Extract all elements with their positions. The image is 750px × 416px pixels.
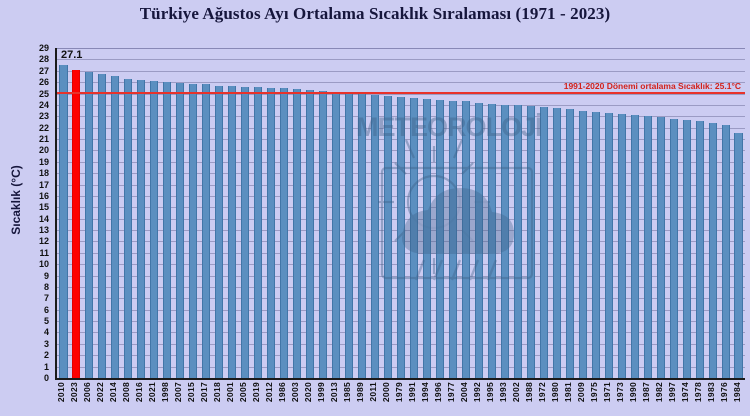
x-axis-tick-labels: 2010202320062022201420082016202119982007… bbox=[55, 382, 745, 416]
x-tick-1990: 1990 bbox=[628, 382, 638, 402]
y-tick-0: 0 bbox=[44, 374, 49, 382]
bar-1973[interactable] bbox=[618, 114, 626, 378]
x-tick-1983: 1983 bbox=[706, 382, 716, 402]
bar-2002[interactable] bbox=[514, 105, 522, 378]
y-tick-6: 6 bbox=[44, 306, 49, 314]
bar-1975[interactable] bbox=[592, 112, 600, 378]
bar-1972[interactable] bbox=[540, 107, 548, 378]
x-tick-1985: 1985 bbox=[342, 382, 352, 402]
x-tick-2017: 2017 bbox=[199, 382, 209, 402]
y-tick-14: 14 bbox=[39, 215, 49, 223]
bar-1996[interactable] bbox=[436, 100, 444, 378]
x-tick-2000: 2000 bbox=[381, 382, 391, 402]
y-tick-10: 10 bbox=[39, 260, 49, 268]
x-tick-2023: 2023 bbox=[69, 382, 79, 402]
x-tick-2020: 2020 bbox=[303, 382, 313, 402]
bar-1999[interactable] bbox=[319, 91, 327, 378]
bar-1998[interactable] bbox=[163, 82, 171, 378]
bar-2018[interactable] bbox=[215, 86, 223, 378]
x-tick-1996: 1996 bbox=[433, 382, 443, 402]
bar-1989[interactable] bbox=[358, 94, 366, 378]
bar-1986[interactable] bbox=[280, 88, 288, 378]
x-tick-2002: 2002 bbox=[511, 382, 521, 402]
bar-1990[interactable] bbox=[631, 115, 639, 378]
bar-2021[interactable] bbox=[150, 81, 158, 378]
bar-1976[interactable] bbox=[722, 125, 730, 378]
bar-1992[interactable] bbox=[475, 103, 483, 378]
bar-2022[interactable] bbox=[98, 74, 106, 378]
y-tick-1: 1 bbox=[44, 363, 49, 371]
x-tick-1977: 1977 bbox=[446, 382, 456, 402]
bar-2013[interactable] bbox=[332, 92, 340, 378]
bar-1994[interactable] bbox=[423, 99, 431, 378]
x-tick-2013: 2013 bbox=[329, 382, 339, 402]
y-tick-19: 19 bbox=[39, 158, 49, 166]
y-tick-28: 28 bbox=[39, 55, 49, 63]
bar-2016[interactable] bbox=[137, 80, 145, 378]
x-tick-2012: 2012 bbox=[264, 382, 274, 402]
x-tick-2007: 2007 bbox=[173, 382, 183, 402]
bar-2017[interactable] bbox=[202, 84, 210, 378]
bar-2015[interactable] bbox=[189, 84, 197, 378]
x-tick-1999: 1999 bbox=[316, 382, 326, 402]
bar-2004[interactable] bbox=[462, 101, 470, 378]
y-tick-24: 24 bbox=[39, 101, 49, 109]
bar-1997[interactable] bbox=[670, 119, 678, 378]
bar-1983[interactable] bbox=[709, 123, 717, 378]
x-tick-1973: 1973 bbox=[615, 382, 625, 402]
x-tick-2022: 2022 bbox=[95, 382, 105, 402]
bar-1982[interactable] bbox=[657, 117, 665, 378]
reference-line-label: 1991-2020 Dönemi ortalama Sıcaklık: 25.1… bbox=[564, 81, 741, 91]
x-tick-2018: 2018 bbox=[212, 382, 222, 402]
y-tick-20: 20 bbox=[39, 146, 49, 154]
x-tick-1993: 1993 bbox=[498, 382, 508, 402]
x-tick-1991: 1991 bbox=[407, 382, 417, 402]
bar-2007[interactable] bbox=[176, 83, 184, 378]
y-tick-11: 11 bbox=[39, 249, 49, 257]
x-tick-1998: 1998 bbox=[160, 382, 170, 402]
bar-1979[interactable] bbox=[397, 97, 405, 378]
bar-2011[interactable] bbox=[371, 95, 379, 378]
y-tick-22: 22 bbox=[39, 124, 49, 132]
bar-1977[interactable] bbox=[449, 101, 457, 378]
chart-title: Türkiye Ağustos Ayı Ortalama Sıcaklık Sı… bbox=[0, 4, 750, 24]
x-tick-2021: 2021 bbox=[147, 382, 157, 402]
y-tick-5: 5 bbox=[44, 317, 49, 325]
y-tick-8: 8 bbox=[44, 283, 49, 291]
y-tick-27: 27 bbox=[39, 67, 49, 75]
bar-2003[interactable] bbox=[293, 89, 301, 378]
bar-2010[interactable] bbox=[59, 65, 67, 378]
x-tick-2019: 2019 bbox=[251, 382, 261, 402]
x-tick-1988: 1988 bbox=[524, 382, 534, 402]
y-tick-3: 3 bbox=[44, 340, 49, 348]
x-tick-2009: 2009 bbox=[576, 382, 586, 402]
x-tick-2014: 2014 bbox=[108, 382, 118, 402]
y-tick-4: 4 bbox=[44, 328, 49, 336]
x-tick-1981: 1981 bbox=[563, 382, 573, 402]
x-tick-2004: 2004 bbox=[459, 382, 469, 402]
x-tick-1976: 1976 bbox=[719, 382, 729, 402]
bar-1971[interactable] bbox=[605, 113, 613, 378]
bar-2008[interactable] bbox=[124, 79, 132, 378]
y-tick-12: 12 bbox=[39, 237, 49, 245]
x-tick-1979: 1979 bbox=[394, 382, 404, 402]
x-tick-2010: 2010 bbox=[56, 382, 66, 402]
plot-area: METEOROLOJİ bbox=[55, 48, 745, 380]
x-tick-1980: 1980 bbox=[550, 382, 560, 402]
x-tick-1992: 1992 bbox=[472, 382, 482, 402]
y-tick-21: 21 bbox=[39, 135, 49, 143]
x-tick-1972: 1972 bbox=[537, 382, 547, 402]
y-tick-25: 25 bbox=[39, 90, 49, 98]
bar-2020[interactable] bbox=[306, 90, 314, 378]
bar-1991[interactable] bbox=[410, 98, 418, 378]
bar-2005[interactable] bbox=[241, 87, 249, 378]
y-tick-15: 15 bbox=[39, 203, 49, 211]
x-tick-1994: 1994 bbox=[420, 382, 430, 402]
bar-series bbox=[57, 48, 745, 378]
x-tick-1971: 1971 bbox=[602, 382, 612, 402]
x-tick-2006: 2006 bbox=[82, 382, 92, 402]
x-tick-1978: 1978 bbox=[693, 382, 703, 402]
y-tick-13: 13 bbox=[39, 226, 49, 234]
bar-1985[interactable] bbox=[345, 94, 353, 378]
bar-1978[interactable] bbox=[696, 121, 704, 378]
y-tick-26: 26 bbox=[39, 78, 49, 86]
bar-2023[interactable] bbox=[72, 70, 80, 378]
x-tick-2001: 2001 bbox=[225, 382, 235, 402]
x-tick-1995: 1995 bbox=[485, 382, 495, 402]
y-tick-23: 23 bbox=[39, 112, 49, 120]
bar-2019[interactable] bbox=[254, 87, 262, 378]
bar-2012[interactable] bbox=[267, 88, 275, 378]
bar-2000[interactable] bbox=[384, 96, 392, 378]
x-tick-1986: 1986 bbox=[277, 382, 287, 402]
bar-2009[interactable] bbox=[579, 111, 587, 378]
bar-1993[interactable] bbox=[501, 105, 509, 378]
x-tick-2016: 2016 bbox=[134, 382, 144, 402]
x-tick-1989: 1989 bbox=[355, 382, 365, 402]
bar-1974[interactable] bbox=[683, 120, 691, 378]
bar-1980[interactable] bbox=[553, 108, 561, 378]
bar-1987[interactable] bbox=[644, 116, 652, 378]
bar-1995[interactable] bbox=[488, 104, 496, 378]
y-tick-9: 9 bbox=[44, 272, 49, 280]
x-tick-2011: 2011 bbox=[368, 382, 378, 402]
x-tick-1997: 1997 bbox=[667, 382, 677, 402]
x-tick-2003: 2003 bbox=[290, 382, 300, 402]
x-tick-1982: 1982 bbox=[654, 382, 664, 402]
x-tick-2008: 2008 bbox=[121, 382, 131, 402]
y-axis-tick-labels: 0123456789101112131415161718192021222324… bbox=[0, 48, 53, 380]
reference-line bbox=[57, 92, 745, 94]
y-tick-17: 17 bbox=[39, 181, 49, 189]
x-tick-1984: 1984 bbox=[732, 382, 742, 402]
chart-container: Türkiye Ağustos Ayı Ortalama Sıcaklık Sı… bbox=[0, 0, 750, 416]
x-tick-1974: 1974 bbox=[680, 382, 690, 402]
y-tick-7: 7 bbox=[44, 294, 49, 302]
highlight-value-label: 27.1 bbox=[61, 49, 82, 61]
bar-1984[interactable] bbox=[734, 133, 742, 378]
y-tick-16: 16 bbox=[39, 192, 49, 200]
bar-2014[interactable] bbox=[111, 76, 119, 378]
bar-1988[interactable] bbox=[527, 106, 535, 378]
y-tick-2: 2 bbox=[44, 351, 49, 359]
x-tick-2015: 2015 bbox=[186, 382, 196, 402]
y-tick-18: 18 bbox=[39, 169, 49, 177]
bar-1981[interactable] bbox=[566, 109, 574, 378]
x-tick-1975: 1975 bbox=[589, 382, 599, 402]
y-tick-29: 29 bbox=[39, 44, 49, 52]
bar-2006[interactable] bbox=[85, 72, 93, 378]
x-tick-2005: 2005 bbox=[238, 382, 248, 402]
bar-2001[interactable] bbox=[228, 86, 236, 378]
x-tick-1987: 1987 bbox=[641, 382, 651, 402]
